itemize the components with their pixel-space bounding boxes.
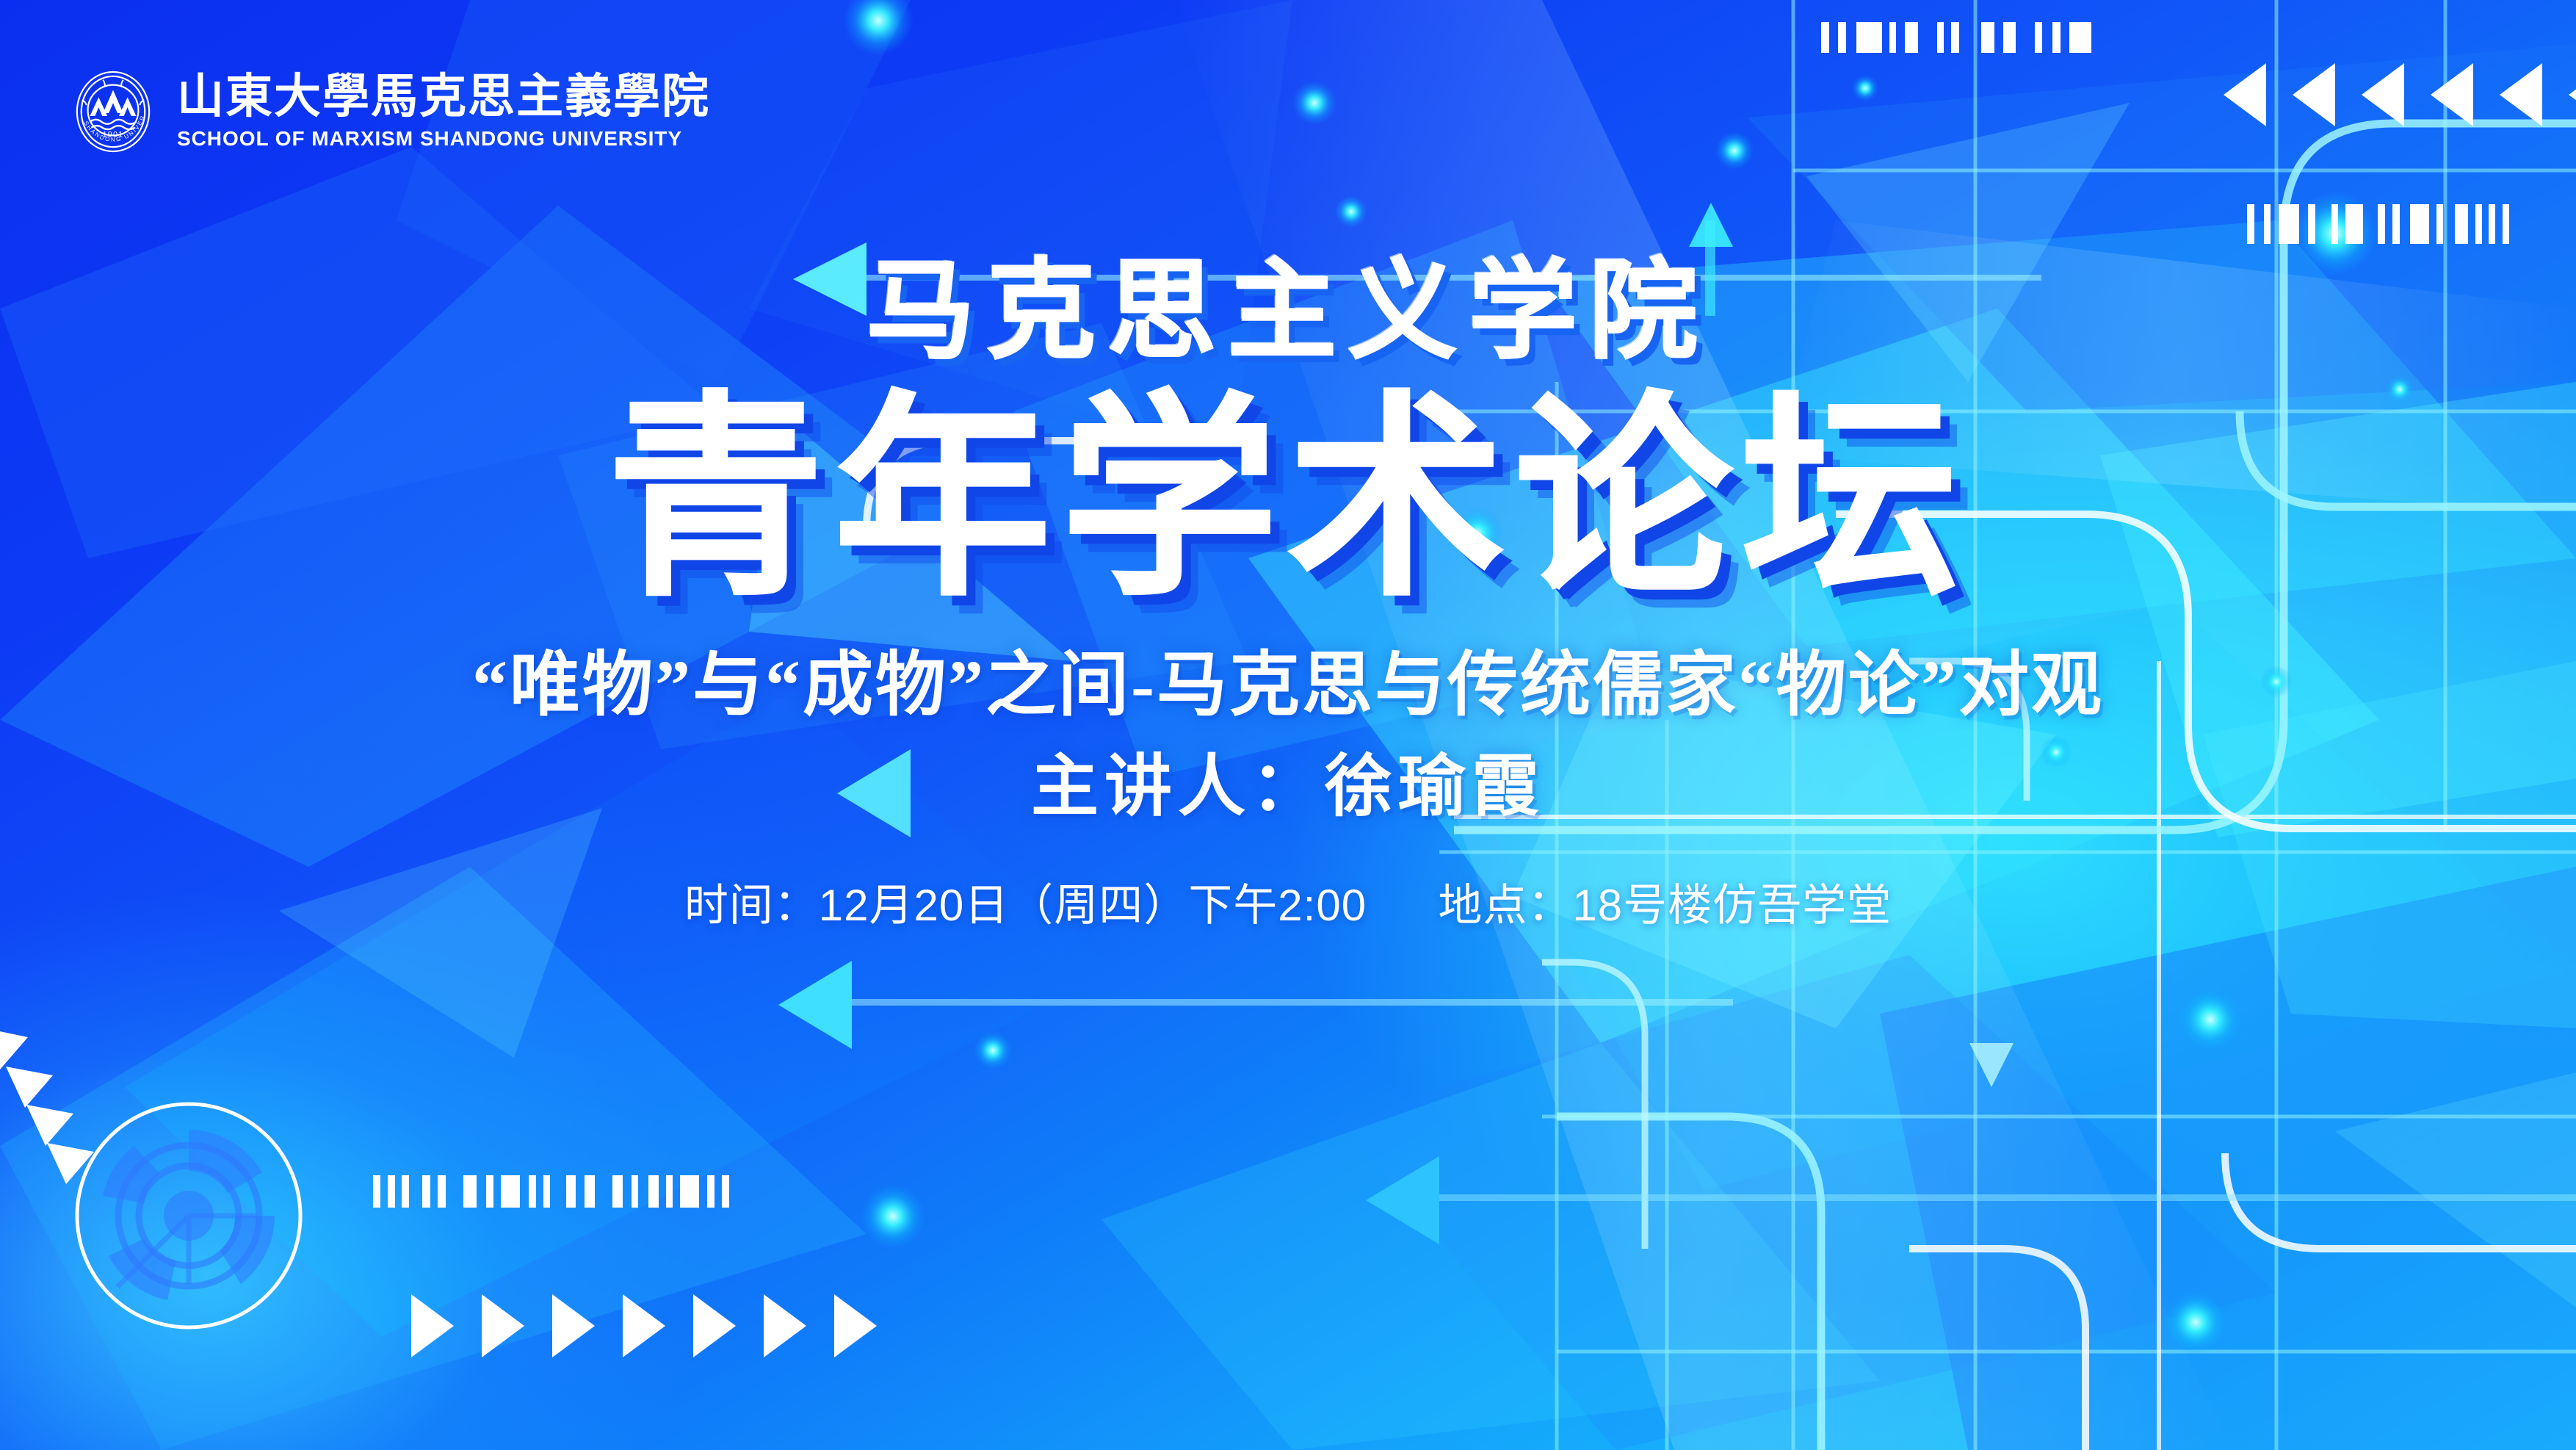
barcode-bar	[2279, 204, 2299, 244]
triangle-right-icon	[623, 1294, 665, 1357]
barcode-bar	[463, 1175, 477, 1208]
barcode-bar	[2489, 204, 2495, 244]
barcode-bar	[722, 1175, 729, 1208]
triangle-left-icon	[2431, 63, 2473, 126]
barcode-bar	[1838, 22, 1846, 53]
barcode-bar	[529, 1175, 536, 1208]
barcode-bar	[666, 1175, 673, 1208]
barcode-bar	[566, 1175, 576, 1208]
triangle-chevron-icon	[0, 1028, 28, 1070]
barcode-bar	[486, 1175, 493, 1208]
barcode-bar	[1905, 22, 1918, 53]
barcode-bar	[2392, 204, 2400, 244]
barcode-bar	[2455, 204, 2468, 244]
barcode-bar	[1821, 22, 1829, 53]
barcode-bar	[402, 1175, 409, 1208]
triangle-chevron-icon	[6, 1067, 53, 1108]
arrow-down-icon	[1969, 1043, 2014, 1087]
arrow-left-info-icon	[1366, 1156, 1439, 1244]
triangle-right-icon	[764, 1294, 806, 1357]
triangle-row-top-right	[2224, 63, 2576, 126]
triangle-right-icon	[411, 1294, 454, 1357]
barcode-bar	[422, 1175, 430, 1208]
barcode-bar	[612, 1175, 623, 1208]
barcode-bar	[1889, 22, 1896, 53]
barcode-bar	[2475, 204, 2482, 244]
barcode-bar	[1856, 22, 1882, 53]
accent-arrows-layer	[0, 0, 2576, 1450]
triangle-right-icon	[482, 1294, 524, 1357]
barcode-bar	[2345, 204, 2363, 244]
barcode-bar	[373, 1175, 380, 1208]
triangle-row-bottom-left	[411, 1294, 877, 1357]
barcode-bar	[2264, 204, 2271, 244]
barcode-bar	[543, 1175, 550, 1208]
barcode-bar	[2035, 22, 2042, 53]
barcode-top-right	[2247, 204, 2509, 244]
triangle-left-icon	[2293, 63, 2335, 126]
barcode-bar	[2410, 204, 2429, 244]
poster-canvas: 1901 SHANDONG UNIVERSITY 山東大學馬克思主義學院 SCH…	[0, 0, 2576, 1450]
barcode-top-center	[1821, 22, 2091, 53]
barcode-bar	[585, 1175, 595, 1208]
barcode-bar	[680, 1175, 699, 1208]
triangle-left-icon	[2362, 63, 2404, 126]
triangle-left-icon	[2569, 63, 2576, 126]
barcode-bar	[501, 1175, 520, 1208]
triangle-right-icon	[693, 1294, 736, 1357]
barcode-bar	[2247, 204, 2254, 244]
arrow-left-speaker-icon	[778, 961, 852, 1049]
barcode-bar	[648, 1175, 659, 1208]
barcode-bar	[2503, 204, 2509, 244]
triangle-right-hud-icon	[419, 1300, 419, 1301]
arrow-left-subtitle-icon	[837, 749, 911, 837]
barcode-bottom-left	[373, 1175, 729, 1208]
triangle-left-icon	[2224, 63, 2266, 126]
barcode-bar	[1937, 22, 1944, 53]
barcode-bar	[388, 1175, 395, 1208]
triangle-right-icon	[552, 1294, 595, 1357]
barcode-bar	[2003, 22, 2016, 53]
barcode-bar	[2052, 22, 2061, 53]
barcode-bar	[2308, 204, 2315, 244]
radar-target-icon	[73, 1100, 304, 1331]
barcode-bar	[2378, 204, 2385, 244]
triangle-left-icon	[2500, 63, 2542, 126]
barcode-bar	[438, 1175, 446, 1208]
triangle-chevron-icon	[26, 1105, 73, 1146]
barcode-bar	[2069, 22, 2091, 53]
triangle-right-icon	[834, 1294, 877, 1357]
barcode-bar	[707, 1175, 714, 1208]
barcode-bar	[1951, 22, 1959, 53]
barcode-bar	[632, 1175, 638, 1208]
barcode-bar	[2436, 204, 2443, 244]
barcode-bar	[2331, 204, 2338, 244]
barcode-bar	[1981, 22, 1994, 53]
